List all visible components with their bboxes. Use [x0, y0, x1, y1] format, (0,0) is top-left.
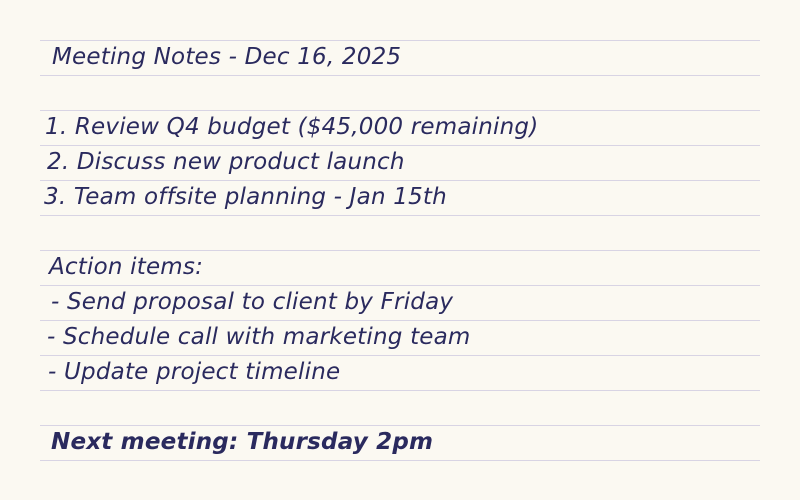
note-text-layer[interactable]: Meeting Notes - Dec 16, 20251. Review Q4… — [0, 0, 800, 500]
note-line-action-head[interactable]: Action items: — [0, 250, 800, 285]
notepad-page: Meeting Notes - Dec 16, 20251. Review Q4… — [0, 0, 800, 500]
note-line-action-3[interactable]: - Update project timeline — [0, 355, 800, 390]
note-line-gap-3 — [0, 390, 800, 425]
note-line-action-1[interactable]: - Send proposal to client by Friday — [0, 285, 800, 320]
note-line-agenda-3[interactable]: 3. Team offsite planning - Jan 15th — [0, 180, 800, 215]
note-line-gap-2 — [0, 215, 800, 250]
note-line-title[interactable]: Meeting Notes - Dec 16, 2025 — [0, 40, 800, 75]
note-line-agenda-2[interactable]: 2. Discuss new product launch — [0, 145, 800, 180]
note-line-gap-1 — [0, 75, 800, 110]
note-line-footer[interactable]: Next meeting: Thursday 2pm — [0, 425, 800, 460]
note-line-agenda-1[interactable]: 1. Review Q4 budget ($45,000 remaining) — [0, 110, 800, 145]
note-line-action-2[interactable]: - Schedule call with marketing team — [0, 320, 800, 355]
